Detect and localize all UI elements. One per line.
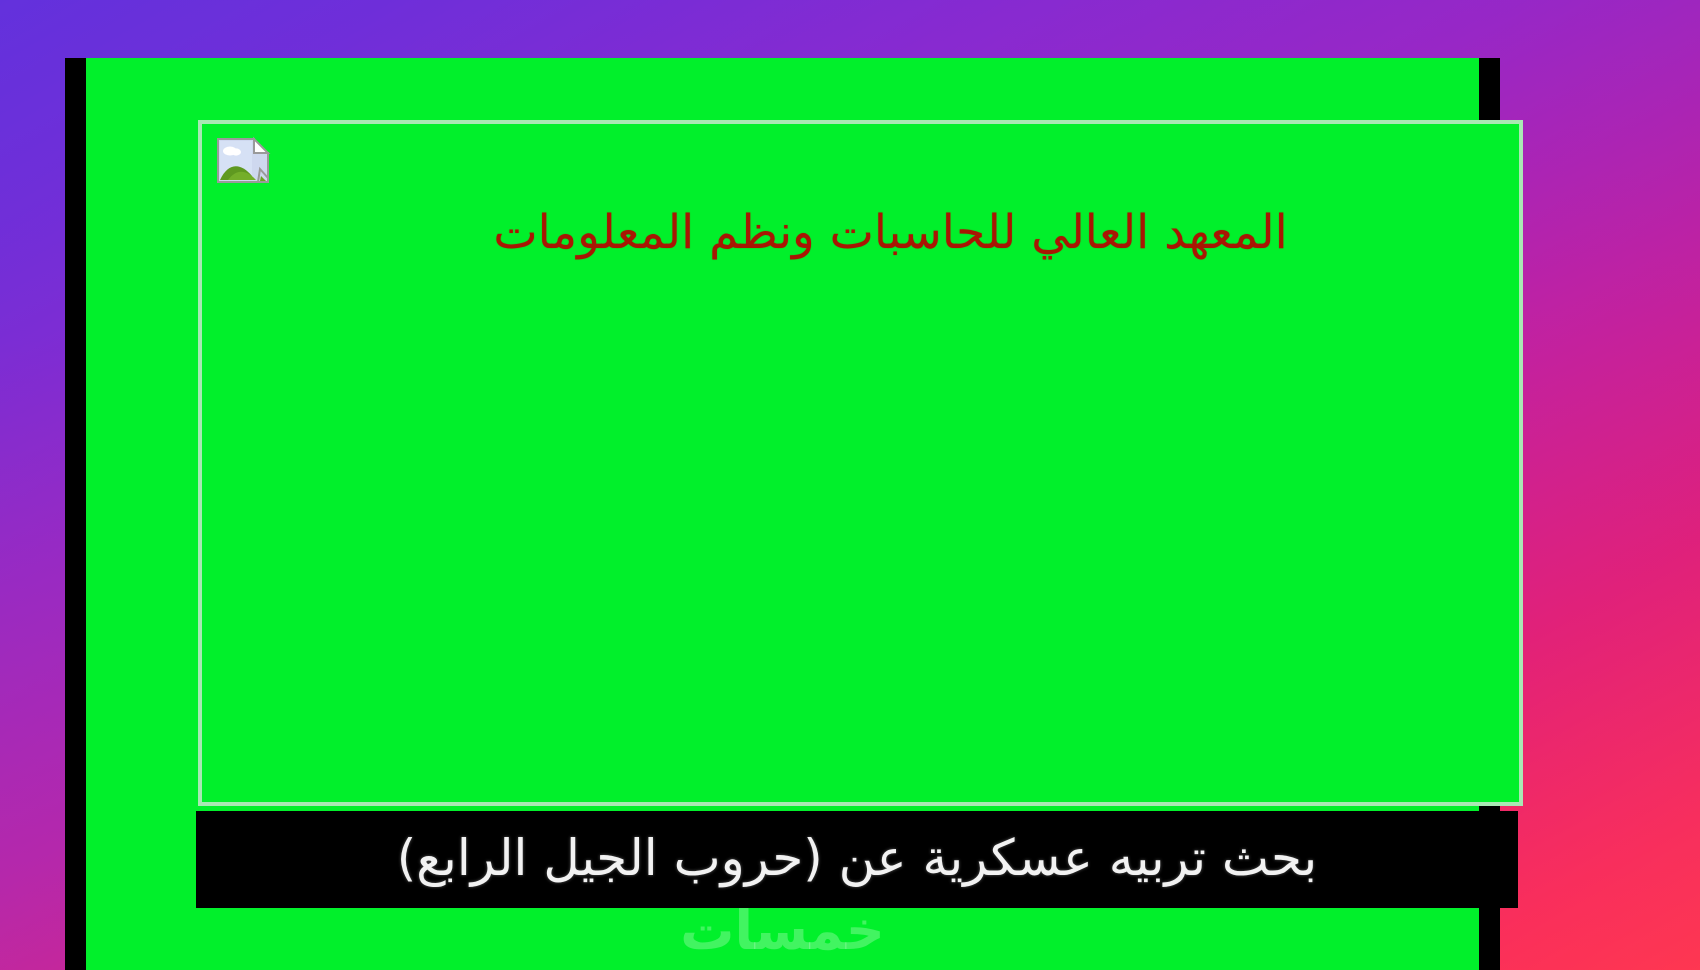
broken-image-icon [214, 136, 276, 198]
caption-text: بحث تربيه عسكرية عن (حروب الجيل الرابع) [397, 833, 1317, 883]
caption-bar: بحث تربيه عسكرية عن (حروب الجيل الرابع) [196, 811, 1518, 908]
watermark-text: خمسات [680, 904, 885, 958]
image-content-frame: المعهد العالي للحاسبات ونظم المعلومات [198, 120, 1523, 806]
page-title: المعهد العالي للحاسبات ونظم المعلومات [202, 206, 1519, 260]
slide-backdrop: المعهد العالي للحاسبات ونظم المعلومات بح… [0, 0, 1700, 970]
watermark: خمسات [86, 904, 1479, 958]
green-stage: المعهد العالي للحاسبات ونظم المعلومات بح… [86, 58, 1479, 970]
